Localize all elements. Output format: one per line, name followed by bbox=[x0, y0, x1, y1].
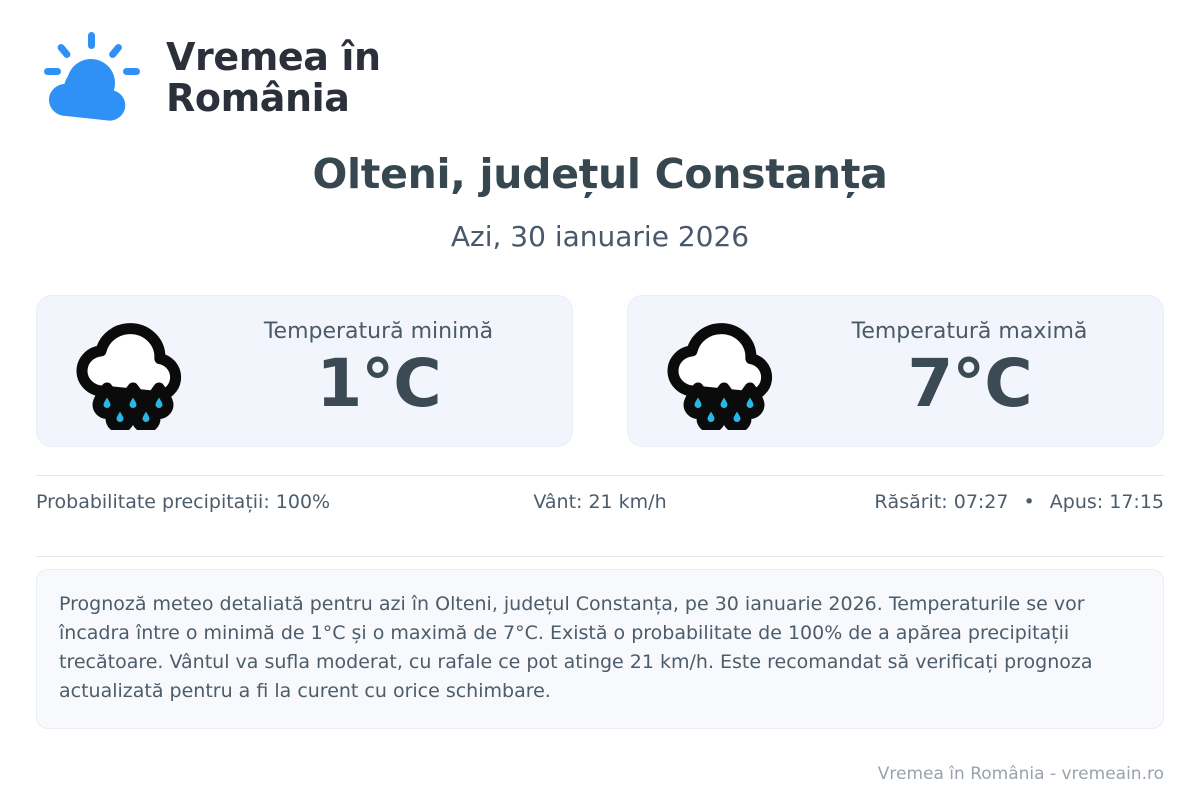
min-temperature-value: 1°C bbox=[316, 348, 440, 419]
divider-bottom bbox=[36, 556, 1164, 557]
stats-row: Probabilitate precipitații: 100% Vânt: 2… bbox=[36, 476, 1164, 528]
min-temperature-body: Temperatură minimă 1°C bbox=[199, 319, 558, 419]
sun-times-stat: Răsărit: 07:27 • Apus: 17:15 bbox=[788, 491, 1164, 513]
sunrise-value: Răsărit: 07:27 bbox=[874, 491, 1008, 513]
temperature-cards: Temperatură minimă 1°C Temp bbox=[36, 295, 1164, 447]
footer-credit: Vremea în România - vremeain.ro bbox=[878, 764, 1164, 784]
min-temperature-card: Temperatură minimă 1°C bbox=[36, 295, 573, 447]
rain-cloud-icon bbox=[658, 312, 790, 430]
title-block: Olteni, județul Constanța Azi, 30 ianuar… bbox=[36, 150, 1164, 253]
page-subtitle: Azi, 30 ianuarie 2026 bbox=[36, 220, 1164, 253]
sun-behind-cloud-icon bbox=[36, 30, 144, 126]
min-temperature-label: Temperatură minimă bbox=[264, 319, 493, 345]
separator-dot: • bbox=[1015, 491, 1044, 513]
brand-header: Vremea în România bbox=[36, 0, 1164, 104]
max-temperature-value: 7°C bbox=[907, 348, 1031, 419]
precipitation-stat: Probabilitate precipitații: 100% bbox=[36, 491, 412, 513]
sunset-value: Apus: 17:15 bbox=[1050, 491, 1164, 513]
forecast-description: Prognoză meteo detaliată pentru azi în O… bbox=[36, 569, 1164, 729]
rain-cloud-icon bbox=[67, 312, 199, 430]
max-temperature-card: Temperatură maximă 7°C bbox=[627, 295, 1164, 447]
weather-page: Vremea în România Olteni, județul Consta… bbox=[0, 0, 1200, 800]
page-title: Olteni, județul Constanța bbox=[36, 150, 1164, 198]
max-temperature-body: Temperatură maximă 7°C bbox=[790, 319, 1149, 419]
max-temperature-label: Temperatură maximă bbox=[852, 319, 1088, 345]
brand-name: Vremea în România bbox=[166, 37, 381, 118]
wind-stat: Vânt: 21 km/h bbox=[412, 491, 788, 513]
